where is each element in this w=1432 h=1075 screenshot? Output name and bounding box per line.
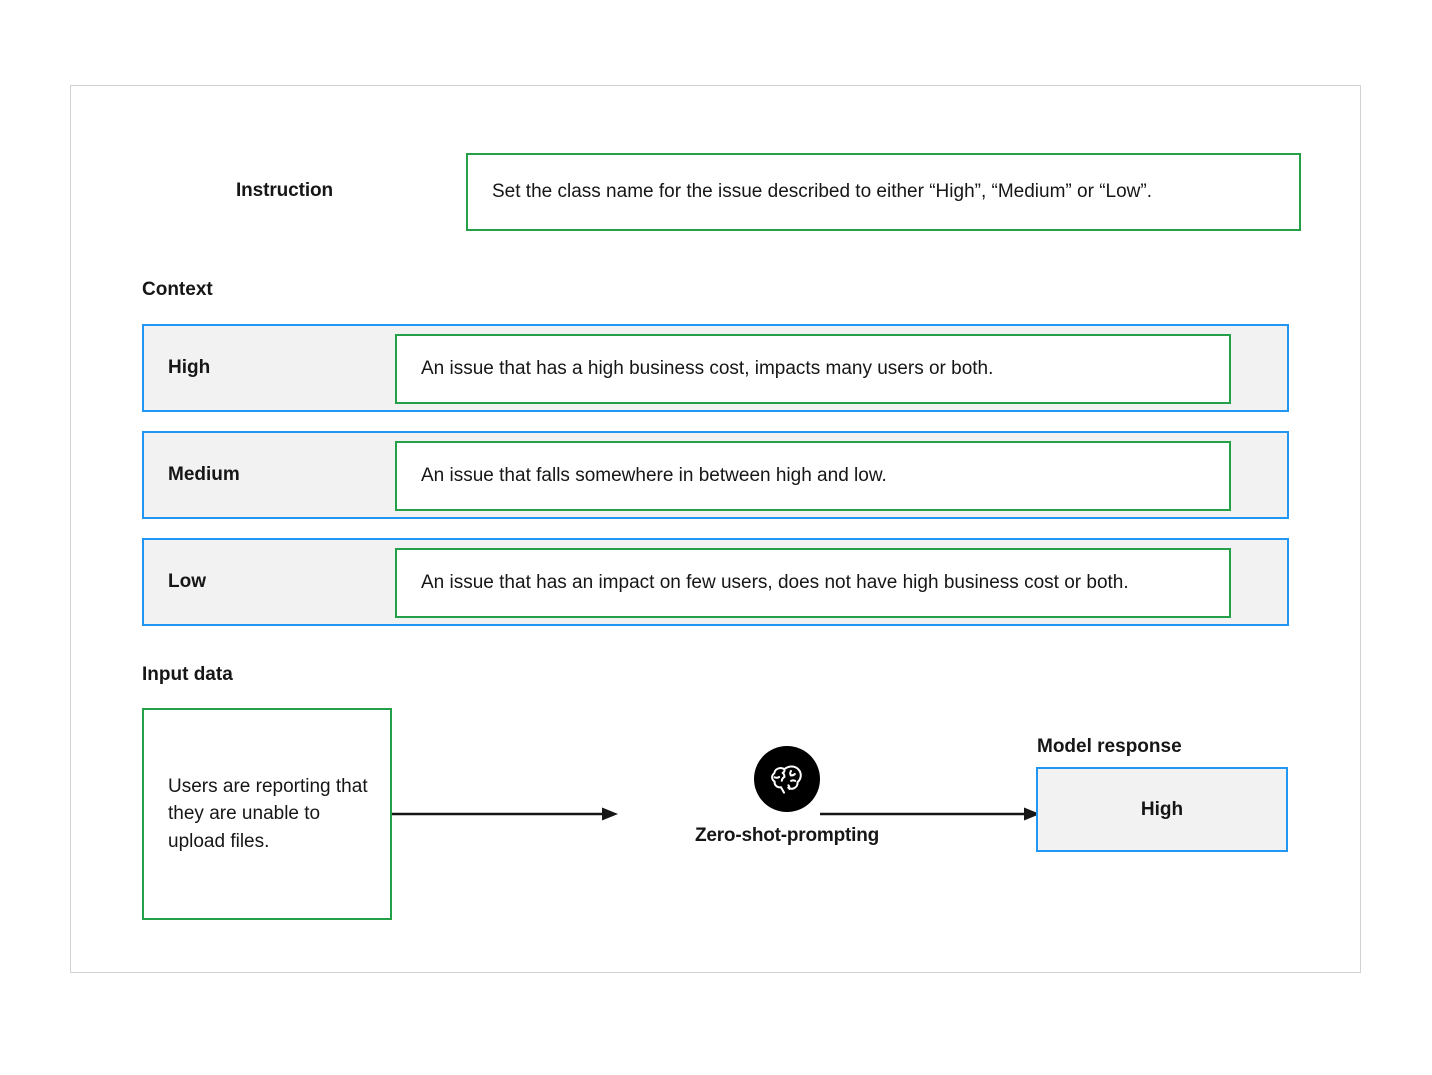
context-label: Context bbox=[142, 279, 213, 301]
context-rows: High An issue that has a high business c… bbox=[142, 324, 1289, 645]
context-definition-box-medium: An issue that falls somewhere in between… bbox=[395, 441, 1231, 511]
input-data-box: Users are reporting that they are unable… bbox=[142, 708, 392, 920]
input-data-text: Users are reporting that they are unable… bbox=[144, 773, 390, 856]
context-row-high: High An issue that has a high business c… bbox=[142, 324, 1289, 412]
arrow-input-to-model-icon bbox=[392, 807, 618, 821]
model-response-label: Model response bbox=[1037, 736, 1182, 758]
context-term-medium: Medium bbox=[168, 433, 240, 517]
context-definition-text-medium: An issue that falls somewhere in between… bbox=[397, 464, 887, 489]
context-definition-box-low: An issue that has an impact on few users… bbox=[395, 548, 1231, 618]
input-data-label: Input data bbox=[142, 664, 233, 686]
instruction-box: Set the class name for the issue describ… bbox=[466, 153, 1301, 231]
context-definition-text-high: An issue that has a high business cost, … bbox=[397, 357, 993, 382]
instruction-label: Instruction bbox=[236, 180, 333, 202]
model-node: Zero-shot-prompting bbox=[612, 746, 962, 847]
context-term-high: High bbox=[168, 326, 210, 410]
context-definition-text-low: An issue that has an impact on few users… bbox=[397, 571, 1129, 596]
model-label: Zero-shot-prompting bbox=[612, 825, 962, 847]
context-term-low: Low bbox=[168, 540, 206, 624]
model-response-value: High bbox=[1141, 799, 1183, 821]
context-definition-box-high: An issue that has a high business cost, … bbox=[395, 334, 1231, 404]
context-row-medium: Medium An issue that falls somewhere in … bbox=[142, 431, 1289, 519]
instruction-section: Instruction Set the class name for the i… bbox=[143, 153, 1303, 233]
context-row-low: Low An issue that has an impact on few u… bbox=[142, 538, 1289, 626]
arrow-model-to-response-icon bbox=[820, 807, 1040, 821]
brain-glyph bbox=[768, 760, 806, 798]
diagram-frame: Instruction Set the class name for the i… bbox=[70, 85, 1361, 973]
brain-icon bbox=[754, 746, 820, 812]
instruction-text: Set the class name for the issue describ… bbox=[468, 180, 1152, 205]
model-response-box: High bbox=[1036, 767, 1288, 852]
